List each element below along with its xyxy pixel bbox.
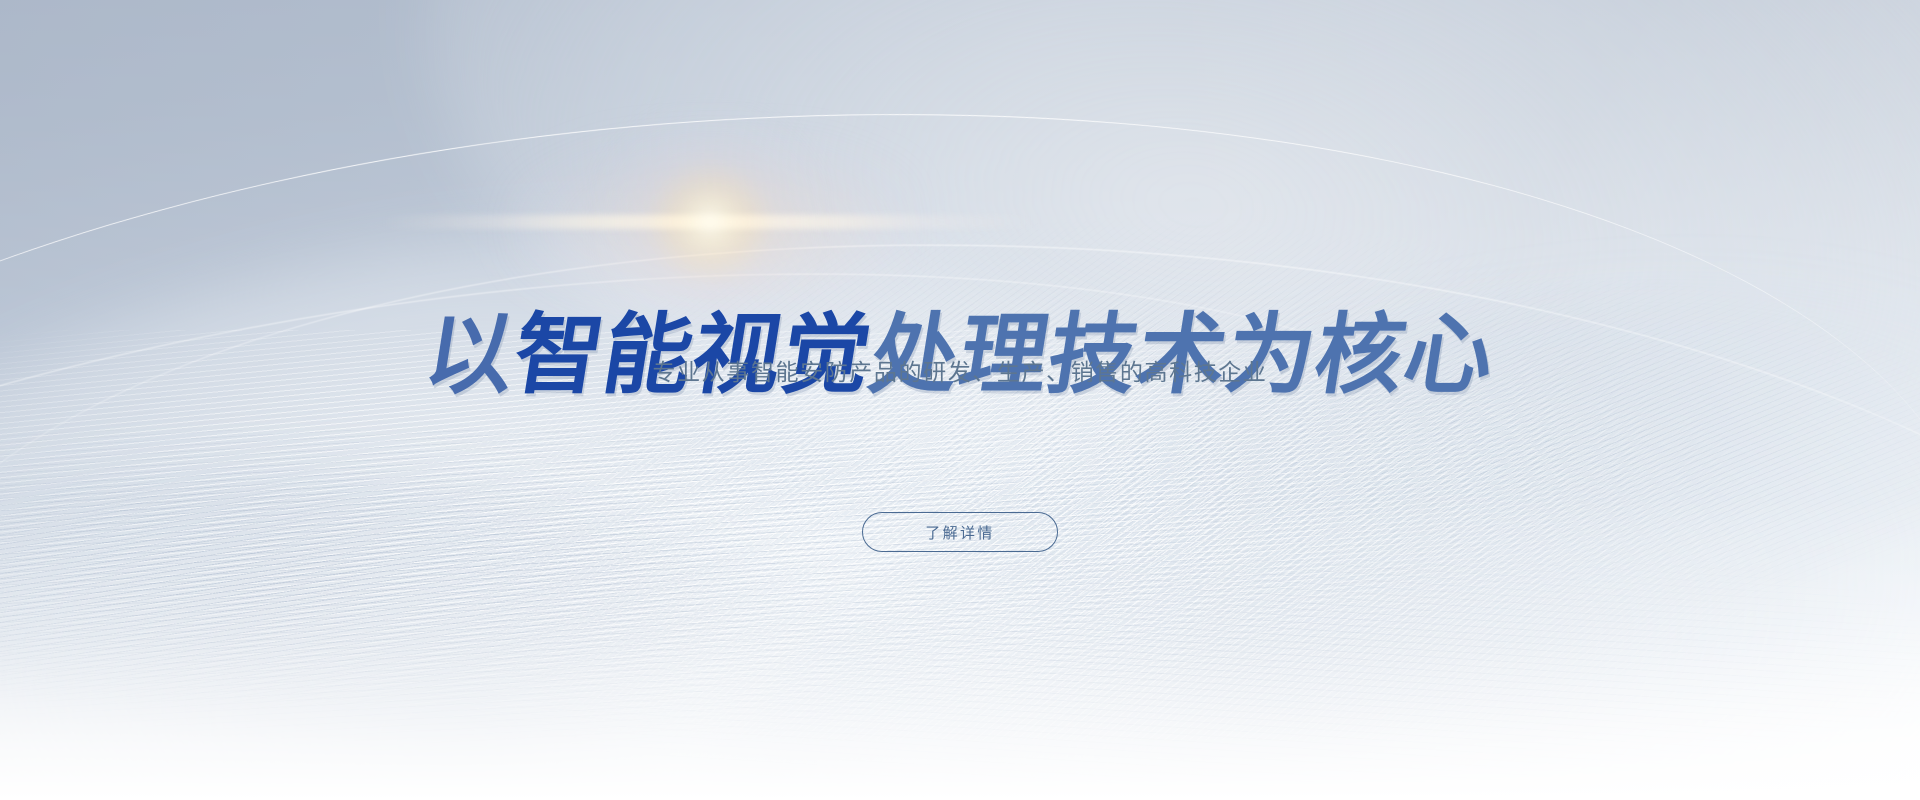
learn-more-button[interactable]: 了解详情	[862, 512, 1058, 552]
page-subtitle: 专业从事智能安防产品的研发、生产、销售的高科技企业	[0, 353, 1920, 387]
hero-banner: 以智能视觉处理技术为核心 专业从事智能安防产品的研发、生产、销售的高科技企业 了…	[0, 0, 1920, 800]
cta-row: 了解详情	[0, 512, 1920, 552]
hero-content: 以智能视觉处理技术为核心 专业从事智能安防产品的研发、生产、销售的高科技企业 了…	[0, 0, 1920, 800]
